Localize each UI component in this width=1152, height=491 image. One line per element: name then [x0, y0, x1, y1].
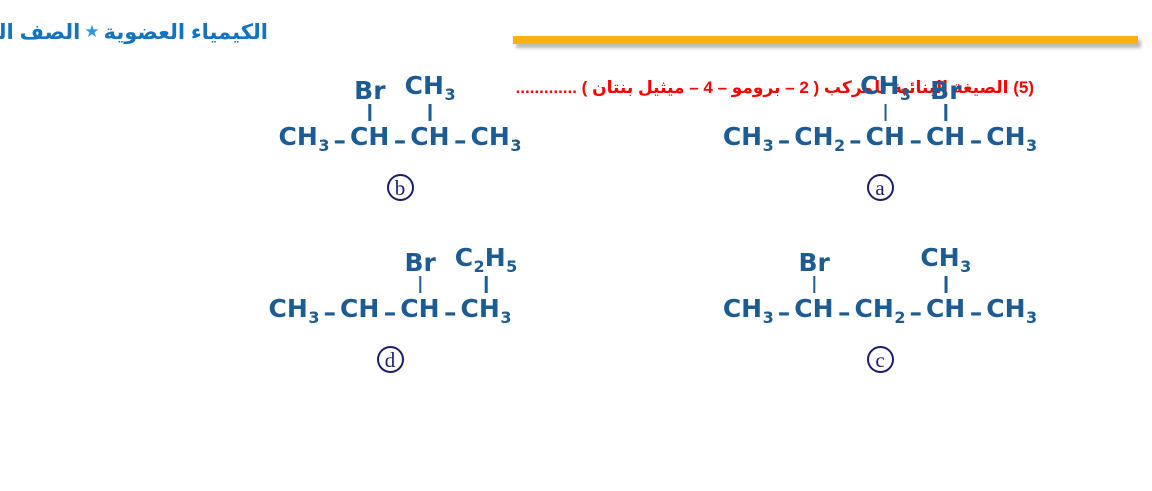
branch-label: Br [798, 250, 829, 275]
option-letter-a[interactable]: a [867, 174, 894, 201]
header-title: الكيمياء العضوية★الصف الثالث الثانوي [0, 20, 268, 45]
vertical-bond [945, 104, 948, 121]
branch-ethyl: C2H5 [455, 245, 518, 296]
branch-subscript: 3 [900, 85, 911, 104]
option-c[interactable]: CH3 – Br CH – CH2 – CH3 [630, 296, 1130, 373]
formula-c: CH3 – Br CH – CH2 – CH3 [722, 296, 1038, 326]
branch-label: CH3 [405, 73, 456, 103]
option-letter-b[interactable]: b [387, 174, 414, 201]
group-label: CH [926, 296, 965, 321]
branch-text: CH [920, 243, 959, 272]
group-subscript: 3 [510, 136, 521, 155]
bond-dash: – [451, 128, 470, 153]
chain-node: Br CH [793, 296, 835, 326]
formula-a: CH3 – CH2 – CH3 CH – Br [722, 124, 1038, 154]
vertical-bond [419, 276, 422, 293]
question-text: (5) الصيغة البنائية للمركب ( 2 – برومو –… [0, 78, 1152, 98]
group-label: CH [794, 296, 833, 321]
chain-node: C2H5 CH3 [460, 296, 513, 326]
group-label: CH [986, 296, 1025, 321]
branch-label: C2H5 [455, 245, 518, 275]
option-d[interactable]: CH3 – CH – Br CH – C2H5 [140, 296, 640, 373]
branch-text: CH [405, 71, 444, 100]
group-subscript: 3 [763, 136, 774, 155]
branch-bromo: Br [930, 78, 961, 124]
group-label: CH [471, 124, 510, 149]
bond-dash: – [835, 300, 854, 325]
group-label: CH [350, 124, 389, 149]
options-container: CH3 – CH2 – CH3 CH – Br [0, 124, 1152, 474]
header-title-subject: الكيمياء العضوية [104, 21, 268, 44]
branch-label: CH3 [860, 73, 911, 103]
group-label: CH [986, 124, 1025, 149]
chain-node: CH3 [722, 124, 775, 154]
chain-node: CH3 CH [925, 296, 967, 326]
star-icon: ★ [84, 22, 99, 41]
branch-label: Br [930, 78, 961, 103]
chain-node: CH3 [470, 124, 523, 154]
option-letter-row-d: d [140, 346, 640, 373]
group-label: CH [794, 124, 833, 149]
group-label: CH [926, 124, 965, 149]
branch-subscript: 2 [474, 257, 485, 276]
group-subscript: 3 [500, 308, 511, 327]
bond-dash: – [381, 300, 400, 325]
chain-node: CH2 [793, 124, 846, 154]
branch-methyl: CH3 [860, 73, 911, 124]
bond-dash: – [775, 300, 794, 325]
header-title-grade: الصف الثالث الثانوي [0, 21, 80, 44]
branch-text: CH [860, 71, 899, 100]
chain-node: Br CH [399, 296, 441, 326]
option-letter-d[interactable]: d [377, 346, 404, 373]
group-subscript: 3 [763, 308, 774, 327]
vertical-bond [369, 104, 372, 121]
branch-subscript: 3 [960, 257, 971, 276]
branch-methyl: CH3 [920, 245, 971, 296]
page-header: الكيمياء العضوية★الصف الثالث الثانوي [0, 0, 1152, 62]
group-label: CH [866, 124, 905, 149]
group-label: CH [855, 296, 894, 321]
vertical-bond [813, 276, 816, 293]
group-label: CH [279, 124, 318, 149]
option-letter-c[interactable]: c [867, 346, 894, 373]
formula-b: CH3 – Br CH – CH3 CH [278, 124, 523, 154]
branch-label: Br [354, 78, 385, 103]
group-subscript: 3 [308, 308, 319, 327]
chain-node: CH [339, 296, 381, 326]
chain-node: CH3 [985, 296, 1038, 326]
group-label: CH [410, 124, 449, 149]
group-label: CH [400, 296, 439, 321]
branch-subscript: 3 [444, 85, 455, 104]
bond-dash: – [846, 128, 865, 153]
branch-subscript: 5 [506, 257, 517, 276]
group-label: CH [269, 296, 308, 321]
option-letter-row-b: b [150, 174, 650, 201]
bond-dash: – [441, 300, 460, 325]
group-label: CH [723, 124, 762, 149]
branch-label: CH3 [920, 245, 971, 275]
vertical-bond [485, 276, 488, 293]
group-label: CH [723, 296, 762, 321]
group-subscript: 3 [1026, 136, 1037, 155]
chain-node: CH3 [985, 124, 1038, 154]
chain-node: CH3 [278, 124, 331, 154]
option-a[interactable]: CH3 – CH2 – CH3 CH – Br [630, 124, 1130, 201]
header-accent-bar [513, 36, 1138, 44]
vertical-bond [945, 276, 948, 293]
option-b[interactable]: CH3 – Br CH – CH3 CH [150, 124, 650, 201]
option-letter-row-c: c [630, 346, 1130, 373]
branch-bromo: Br [404, 250, 435, 296]
bond-dash: – [320, 300, 339, 325]
branch-methyl: CH3 [405, 73, 456, 124]
branch-bromo: Br [354, 78, 385, 124]
group-subscript: 2 [834, 136, 845, 155]
formula-d: CH3 – CH – Br CH – C2H5 [268, 296, 513, 326]
branch-bromo: Br [798, 250, 829, 296]
option-letter-row-a: a [630, 174, 1130, 201]
branch-text: C [455, 243, 473, 272]
branch-text: H [485, 243, 506, 272]
branch-label: Br [404, 250, 435, 275]
chain-node: Br CH [349, 124, 391, 154]
group-subscript: 3 [318, 136, 329, 155]
group-label: CH [461, 296, 500, 321]
chain-node: CH3 CH [865, 124, 907, 154]
bond-dash: – [330, 128, 349, 153]
vertical-bond [884, 104, 887, 121]
group-subscript: 2 [894, 308, 905, 327]
bond-dash: – [967, 300, 986, 325]
bond-dash: – [391, 128, 410, 153]
chain-node: CH2 [854, 296, 907, 326]
bond-dash: – [967, 128, 986, 153]
chain-node: CH3 CH [409, 124, 451, 154]
bond-dash: – [775, 128, 794, 153]
chain-node: CH3 [268, 296, 321, 326]
vertical-bond [429, 104, 432, 121]
chain-node: Br CH [925, 124, 967, 154]
bond-dash: – [906, 300, 925, 325]
chain-node: CH3 [722, 296, 775, 326]
bond-dash: – [906, 128, 925, 153]
group-subscript: 3 [1026, 308, 1037, 327]
group-label: CH [340, 296, 379, 321]
